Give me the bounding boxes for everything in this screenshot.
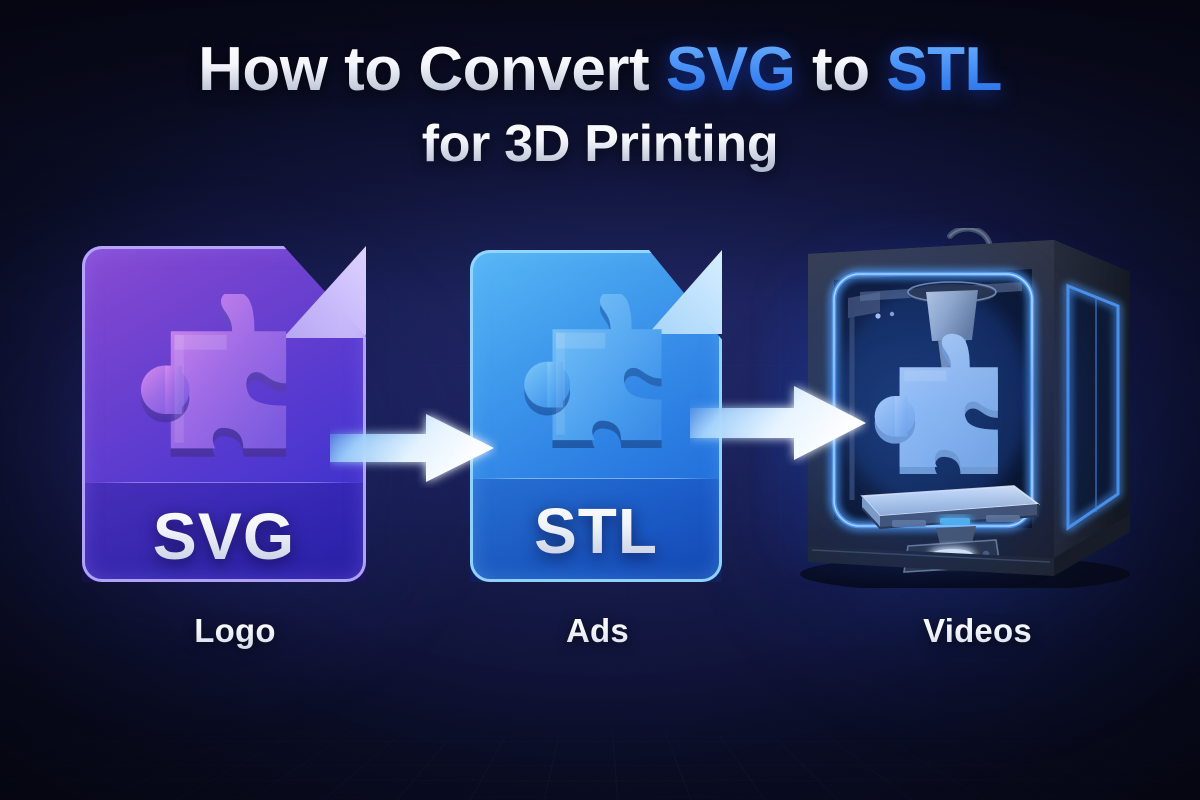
stage-label-ads: Ads (490, 612, 705, 650)
title-line-1: How to Convert SVG to STL (0, 38, 1200, 101)
title-text-for-3d-printing: for 3D Printing (422, 115, 779, 173)
title-highlight-svg: SVG (666, 35, 795, 104)
stl-card-extension-label: STL (470, 494, 722, 568)
title-highlight-stl: STL (886, 35, 1002, 104)
page-title: How to Convert SVG to STL for 3D Printin… (0, 38, 1200, 172)
title-text-to: to (795, 35, 886, 104)
right-arrow-icon (690, 380, 870, 466)
infographic-canvas: How to Convert SVG to STL for 3D Printin… (0, 0, 1200, 800)
svg-file-card[interactable]: SVG (82, 246, 366, 582)
puzzle-piece-icon (128, 294, 314, 480)
stl-file-card[interactable]: STL (470, 250, 722, 582)
svg-card-extension-label: SVG (82, 498, 366, 574)
right-arrow-icon (330, 408, 498, 488)
stage-label-logo: Logo (120, 612, 350, 650)
stage-labels: Logo Ads Videos (0, 612, 1200, 672)
title-text-how-to-convert: How to Convert (198, 35, 666, 104)
stage-label-videos: Videos (860, 612, 1095, 650)
puzzle-piece-icon (512, 294, 688, 470)
title-line-2: for 3D Printing (0, 117, 1200, 172)
